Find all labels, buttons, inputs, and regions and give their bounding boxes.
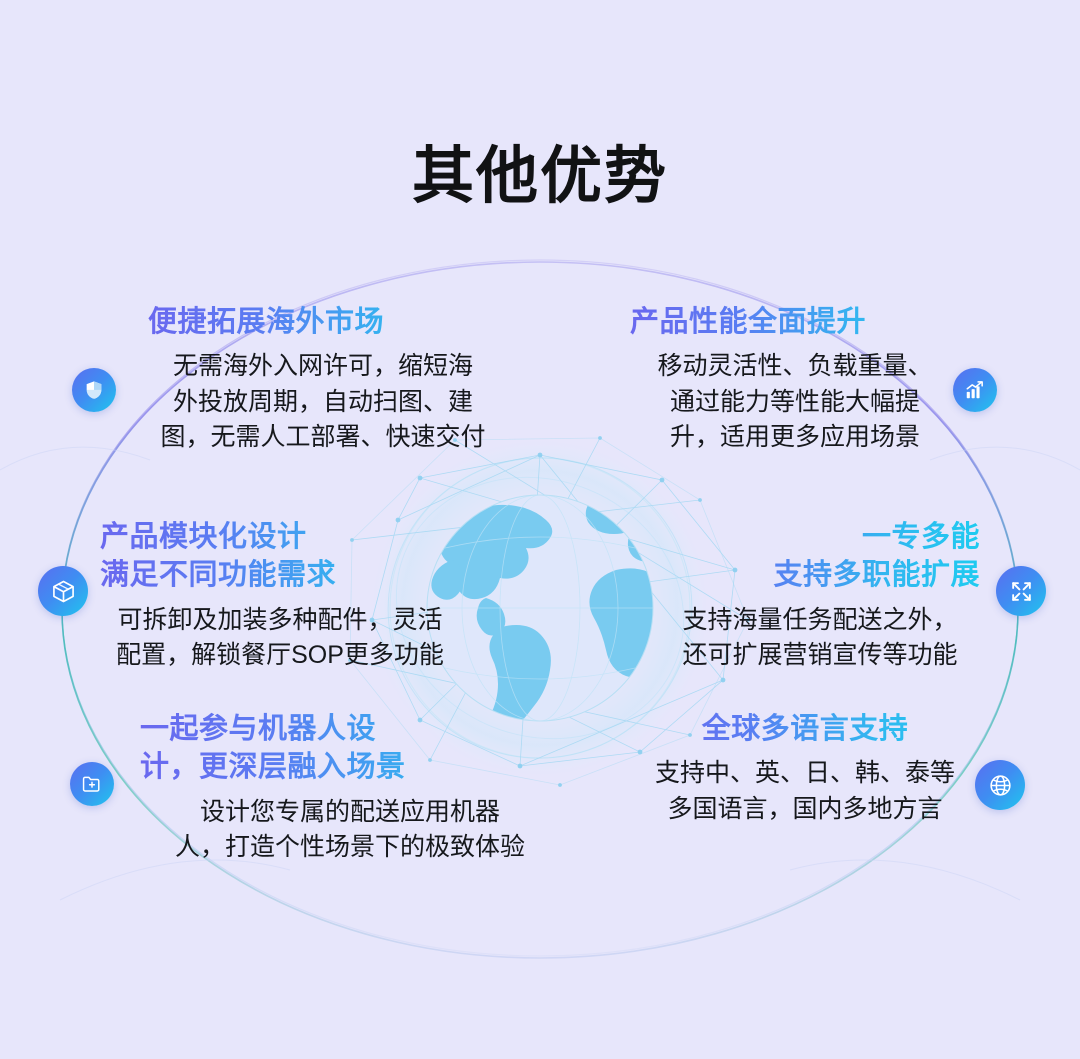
feature-block-performance: 产品性能全面提升 移动灵活性、负载重量、 通过能力等性能大幅提 升，适用更多应用… (630, 303, 960, 456)
feature-heading: 产品性能全面提升 (630, 303, 960, 341)
feature-body: 移动灵活性、负载重量、 通过能力等性能大幅提 升，适用更多应用场景 (630, 349, 960, 456)
globe-icon-badge (975, 760, 1025, 810)
folder-plus-icon-badge (70, 762, 114, 806)
shield-icon-badge (72, 368, 116, 412)
feature-body: 支持中、英、日、韩、泰等 多国语言，国内多地方言 (640, 756, 970, 827)
globe-icon (988, 773, 1013, 798)
feature-block-overseas: 便捷拓展海外市场 无需海外入网许可，缩短海 外投放周期，自动扫图、建 图，无需人… (148, 303, 498, 456)
shield-icon (83, 379, 105, 401)
feature-block-multitask: 一专多能 支持多职能扩展 支持海量任务配送之外， 还可扩展营销宣传等功能 (660, 518, 980, 674)
feature-block-codesign: 一起参与机器人设 计，更深层融入场景 设计您专属的配送应用机器 人，打造个性场景… (140, 710, 560, 866)
infographic-canvas: 其他优势 便捷拓展海外市场 无需海外入网许可，缩短海 外投放周期，自动扫图、建 … (0, 0, 1080, 1059)
page-title: 其他优势 (0, 146, 1080, 208)
bar-chart-up-icon-badge (953, 368, 997, 412)
feature-heading: 一起参与机器人设 计，更深层融入场景 (140, 710, 560, 787)
cube-icon-badge (38, 566, 88, 616)
cube-icon (51, 579, 76, 604)
feature-body: 设计您专属的配送应用机器 人，打造个性场景下的极致体验 (140, 795, 560, 866)
expand-arrows-icon-badge (996, 566, 1046, 616)
folder-plus-icon (81, 773, 103, 795)
feature-body: 支持海量任务配送之外， 还可扩展营销宣传等功能 (660, 603, 980, 674)
feature-heading: 全球多语言支持 (640, 710, 970, 748)
bar-chart-up-icon (964, 379, 986, 401)
feature-block-modular: 产品模块化设计 满足不同功能需求 可拆卸及加装多种配件，灵活 配置，解锁餐厅SO… (100, 518, 460, 674)
feature-heading: 一专多能 支持多职能扩展 (660, 518, 980, 595)
expand-arrows-icon (1009, 579, 1034, 604)
feature-body: 可拆卸及加装多种配件，灵活 配置，解锁餐厅SOP更多功能 (100, 603, 460, 674)
feature-block-language: 全球多语言支持 支持中、英、日、韩、泰等 多国语言，国内多地方言 (640, 710, 970, 827)
feature-heading: 产品模块化设计 满足不同功能需求 (100, 518, 460, 595)
feature-body: 无需海外入网许可，缩短海 外投放周期，自动扫图、建 图，无需人工部署、快速交付 (148, 349, 498, 456)
feature-heading: 便捷拓展海外市场 (148, 303, 498, 341)
